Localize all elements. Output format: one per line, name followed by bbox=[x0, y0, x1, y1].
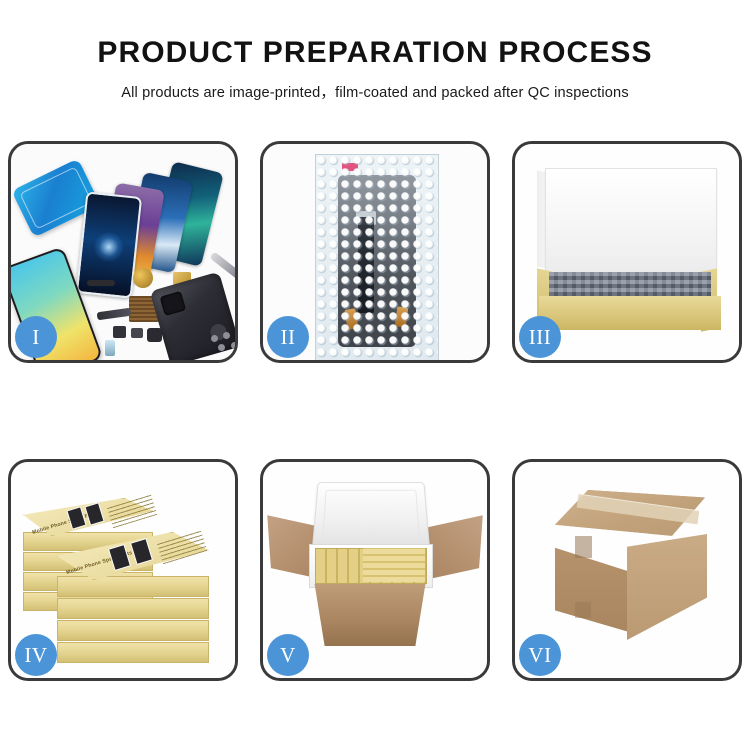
foam-lid bbox=[312, 482, 430, 547]
step-panel-3: III bbox=[512, 141, 742, 363]
earpiece-part bbox=[87, 280, 115, 286]
box-white-lid bbox=[545, 168, 717, 288]
small-module-2 bbox=[131, 328, 143, 338]
screws-group bbox=[209, 332, 235, 354]
steps-grid: I II bbox=[8, 141, 742, 681]
page-title: PRODUCT PREPARATION PROCESS bbox=[0, 0, 750, 70]
step-badge-6: VI bbox=[519, 634, 561, 676]
step-panel-1: I bbox=[8, 141, 238, 363]
stacked-box bbox=[57, 598, 209, 619]
carton-flap-mark-1 bbox=[575, 536, 592, 558]
stacked-box bbox=[57, 576, 209, 597]
page-subtitle: All products are image-printed，film-coat… bbox=[0, 70, 750, 102]
yellow-box-tray bbox=[539, 296, 721, 330]
step-panel-5: V bbox=[260, 459, 490, 681]
step-panel-2: II bbox=[260, 141, 490, 363]
carton-flap-mark-2 bbox=[575, 602, 591, 618]
step-badge-5: V bbox=[267, 634, 309, 676]
step-badge-2: II bbox=[267, 316, 309, 358]
step-panel-4: Mobile Phone Spare Parts Mobile Phone Sp… bbox=[8, 459, 238, 681]
step-badge-3: III bbox=[519, 316, 561, 358]
speaker-part bbox=[133, 268, 153, 288]
step-panel-6: VI bbox=[512, 459, 742, 681]
carton-front-panel bbox=[307, 584, 433, 646]
step-badge-4: IV bbox=[15, 634, 57, 676]
yellow-boxes-row-2 bbox=[363, 548, 425, 582]
step-badge-1: I bbox=[15, 316, 57, 358]
bubble-texture bbox=[316, 155, 438, 360]
box-spec-lines bbox=[107, 494, 157, 528]
flex-cable-part-1 bbox=[97, 308, 132, 321]
carton-right-face bbox=[627, 534, 707, 640]
product-preparation-infographic: PRODUCT PREPARATION PROCESS All products… bbox=[0, 0, 750, 750]
carton-left-face bbox=[555, 524, 629, 632]
sealed-carton bbox=[537, 490, 723, 642]
small-module-1 bbox=[113, 326, 126, 338]
header: PRODUCT PREPARATION PROCESS All products… bbox=[0, 0, 750, 102]
ic-chip-part bbox=[105, 340, 115, 356]
stacked-box bbox=[57, 642, 209, 663]
stacked-box bbox=[57, 620, 209, 641]
bubble-wrap-bag bbox=[315, 154, 439, 360]
